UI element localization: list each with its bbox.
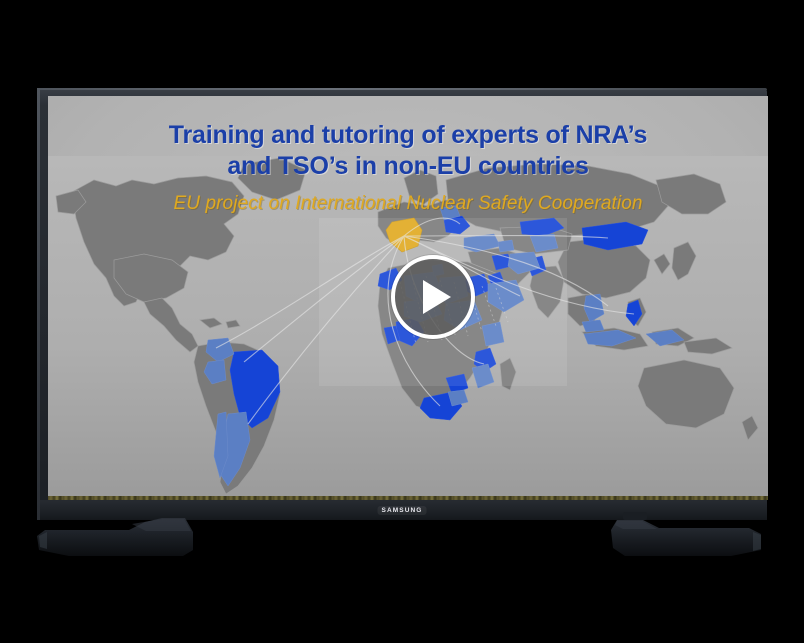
slide-title-line-1: Training and tutoring of experts of NRA’… [48, 120, 768, 151]
television-chassis: Training and tutoring of experts of NRA’… [37, 88, 767, 520]
video-thumbnail-stage: Training and tutoring of experts of NRA’… [0, 0, 804, 643]
play-button[interactable] [391, 255, 475, 339]
tv-stand-foot-left [33, 516, 198, 576]
tv-screen[interactable]: Training and tutoring of experts of NRA’… [48, 96, 768, 500]
play-triangle-icon [423, 280, 451, 314]
tv-stand-foot-right [603, 512, 773, 574]
samsung-brand-logo: SAMSUNG [378, 506, 427, 515]
